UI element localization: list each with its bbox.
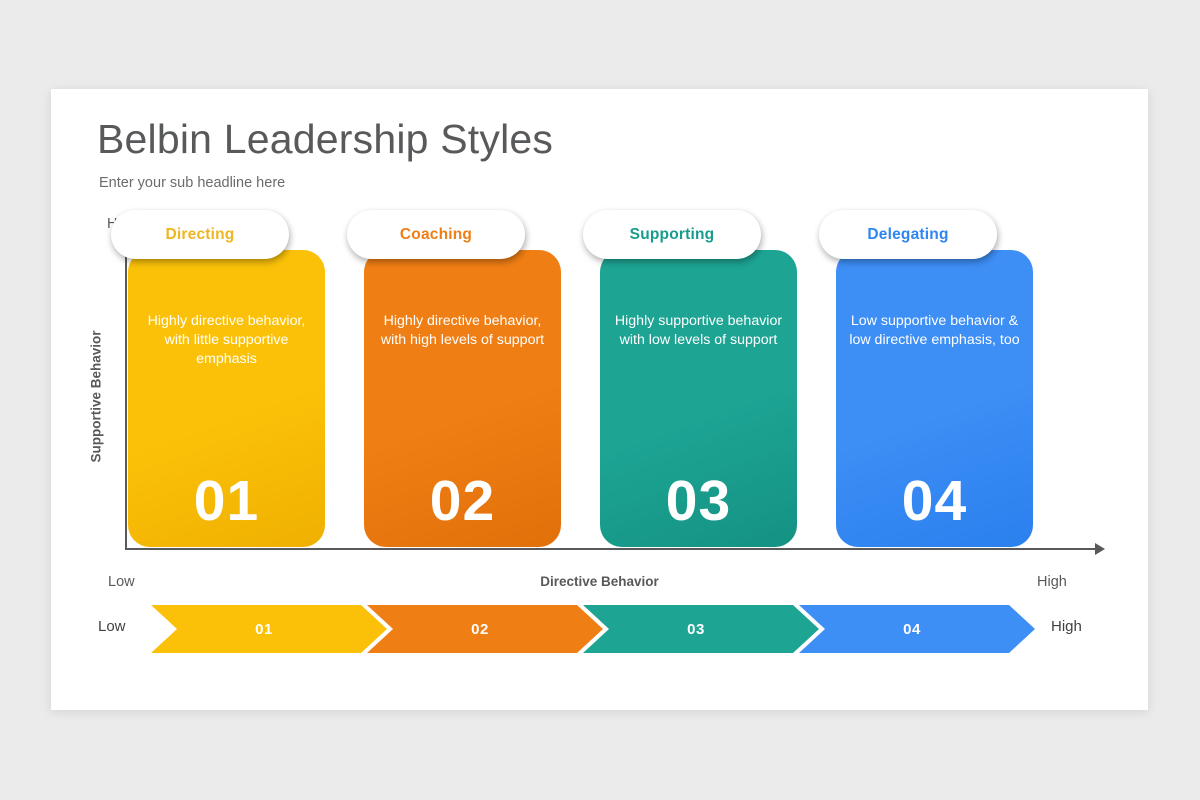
x-axis-line	[125, 548, 1099, 550]
y-axis-line	[125, 246, 127, 549]
style-card-04[interactable]: Low supportive behavior & low directive …	[836, 250, 1033, 547]
chevron-step-number: 02	[471, 621, 489, 638]
style-label-pill-01[interactable]: Directing	[111, 210, 289, 259]
y-axis-title: Supportive Behavior	[89, 297, 104, 497]
chevron-step-number: 03	[687, 621, 705, 638]
style-card-number: 02	[364, 473, 561, 530]
chevron-step-03[interactable]: 03	[583, 605, 819, 653]
style-card-description: Highly supportive behavior with low leve…	[612, 312, 785, 350]
style-label-pill-02[interactable]: Coaching	[347, 210, 525, 259]
chevron-low-label: Low	[98, 618, 126, 635]
chevron-high-label: High	[1051, 618, 1082, 635]
style-label-text: Directing	[166, 226, 235, 244]
style-label-text: Supporting	[630, 226, 715, 244]
style-label-text: Delegating	[867, 226, 948, 244]
style-label-pill-03[interactable]: Supporting	[583, 210, 761, 259]
chevron-progression-bar: Low High 01020304	[51, 605, 1148, 665]
style-card-description: Highly directive behavior, with high lev…	[376, 312, 549, 350]
style-card-01[interactable]: Highly directive behavior, with little s…	[128, 250, 325, 547]
style-label-text: Coaching	[400, 226, 472, 244]
chevron-step-01[interactable]: 01	[151, 605, 387, 653]
style-card-02[interactable]: Highly directive behavior, with high lev…	[364, 250, 561, 547]
style-card-description: Highly directive behavior, with little s…	[140, 312, 313, 369]
slide-canvas: Belbin Leadership Styles Enter your sub …	[51, 89, 1148, 710]
style-card-description: Low supportive behavior & low directive …	[848, 312, 1021, 350]
style-label-pill-04[interactable]: Delegating	[819, 210, 997, 259]
style-card-number: 04	[836, 473, 1033, 530]
style-card-number: 01	[128, 473, 325, 530]
chevron-step-number: 01	[255, 621, 273, 638]
style-card-03[interactable]: Highly supportive behavior with low leve…	[600, 250, 797, 547]
x-axis-title: Directive Behavior	[51, 574, 1148, 589]
style-card-number: 03	[600, 473, 797, 530]
chevron-step-number: 04	[903, 621, 921, 638]
chevron-step-02[interactable]: 02	[367, 605, 603, 653]
x-axis-arrow-icon	[1095, 543, 1105, 555]
chevron-step-04[interactable]: 04	[799, 605, 1035, 653]
